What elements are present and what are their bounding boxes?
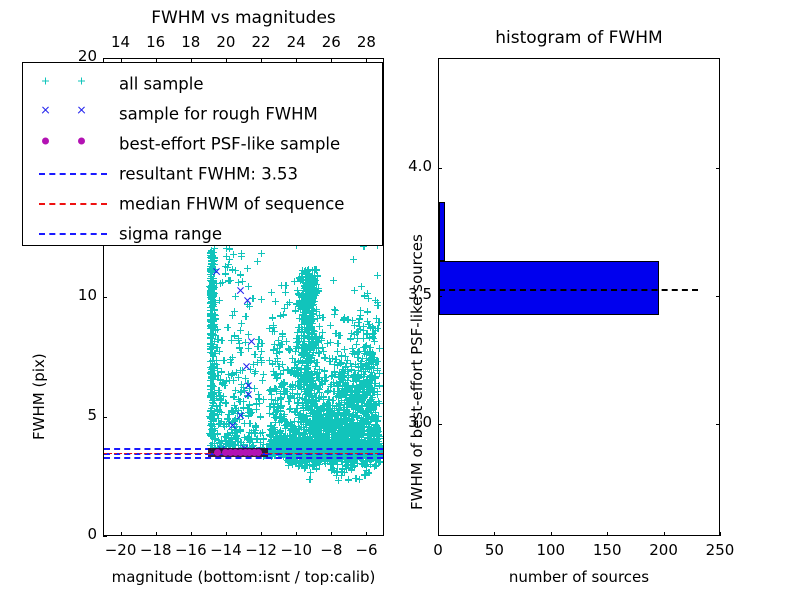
x-tick-mark — [331, 532, 332, 536]
all-sample-point — [260, 371, 267, 378]
top-x-tick-label: 20 — [206, 33, 246, 51]
all-sample-point — [253, 406, 260, 413]
all-sample-point — [238, 320, 245, 327]
right-y-axis-label: FWHM of best-effort PSF-like sources — [408, 234, 426, 510]
all-sample-point — [304, 352, 311, 359]
legend-label: best-effort PSF-like sample — [119, 135, 340, 154]
all-sample-point — [371, 425, 378, 432]
all-sample-point — [252, 423, 259, 430]
y-tick-mark — [103, 536, 107, 537]
all-sample-point — [239, 278, 246, 285]
all-sample-point — [308, 341, 315, 348]
all-sample-point — [273, 375, 280, 382]
all-sample-point — [237, 427, 244, 434]
all-sample-point — [317, 418, 324, 425]
histogram-of-fwhm-axes — [438, 58, 720, 536]
all-sample-point — [306, 282, 313, 289]
all-sample-point — [272, 298, 279, 305]
all-sample-point — [362, 343, 369, 350]
all-sample-point — [305, 298, 312, 305]
hist-x-tick-label: 150 — [583, 541, 631, 559]
all-sample-point — [208, 291, 215, 298]
all-sample-point — [272, 419, 279, 426]
all-sample-point — [345, 410, 352, 417]
legend-line-icon — [39, 173, 107, 175]
all-sample-point — [357, 326, 364, 333]
rough-fwhm-point — [212, 267, 221, 276]
all-sample-point — [374, 272, 381, 279]
all-sample-point — [210, 412, 217, 419]
all-sample-point — [304, 382, 311, 389]
rough-fwhm-point — [244, 381, 253, 390]
all-sample-point — [331, 410, 338, 417]
all-sample-point — [357, 307, 364, 314]
all-sample-point — [356, 433, 363, 440]
all-sample-point — [220, 357, 227, 364]
all-sample-point — [268, 289, 275, 296]
legend-label: all sample — [119, 75, 204, 94]
all-sample-point — [254, 258, 261, 265]
all-sample-point — [359, 417, 366, 424]
hist-x-tick-mark — [494, 532, 495, 536]
hist-x-tick-mark — [664, 532, 665, 536]
all-sample-point — [209, 298, 216, 305]
all-sample-point — [266, 387, 273, 394]
all-sample-point — [266, 357, 273, 364]
x-tick-mark — [366, 532, 367, 536]
hist-x-tick-label: 50 — [470, 541, 518, 559]
all-sample-point — [245, 405, 252, 412]
all-sample-point — [299, 326, 306, 333]
all-sample-point — [210, 282, 217, 289]
hist-median-line — [439, 289, 698, 291]
psf-like-point — [214, 449, 221, 456]
rough-fwhm-point — [244, 390, 253, 399]
hist-x-tick-label: 0 — [414, 541, 462, 559]
x-tick-mark — [156, 532, 157, 536]
x-tick-mark — [121, 532, 122, 536]
all-sample-point — [282, 289, 289, 296]
left-y-axis-label: FWHM (pix) — [30, 353, 48, 440]
hist-y-tick-label: 3.5 — [386, 285, 432, 303]
all-sample-point — [338, 468, 345, 475]
all-sample-point — [341, 314, 348, 321]
left-plot-title: FWHM vs magnitudes — [103, 8, 384, 28]
top-x-tick-label: 14 — [101, 33, 141, 51]
legend-row: median FHWM of sequence — [23, 189, 382, 219]
all-sample-point — [358, 283, 365, 290]
all-sample-point — [313, 266, 320, 273]
all-sample-point — [373, 358, 380, 365]
y-tick-mark — [103, 417, 107, 418]
all-sample-point — [259, 377, 266, 384]
all-sample-point — [289, 381, 296, 388]
histogram-bar — [439, 261, 659, 315]
all-sample-point — [373, 315, 380, 322]
all-sample-point — [300, 434, 307, 441]
right-plot-title: histogram of FWHM — [438, 28, 720, 48]
all-sample-point — [225, 277, 232, 284]
all-sample-point — [280, 311, 287, 318]
all-sample-point — [306, 323, 313, 330]
all-sample-point — [244, 265, 251, 272]
all-sample-point — [294, 364, 301, 371]
all-sample-point — [232, 267, 239, 274]
all-sample-point — [306, 316, 313, 323]
all-sample-point — [359, 389, 366, 396]
rough-fwhm-point — [242, 362, 251, 371]
figure-canvas: FWHM vs magnitudes FWHM (pix) magnitude … — [0, 0, 800, 600]
all-sample-point — [309, 334, 316, 341]
hist-x-tick-mark — [607, 532, 608, 536]
all-sample-point — [303, 358, 310, 365]
all-sample-point — [279, 437, 286, 444]
top-x-tick-label: 18 — [171, 33, 211, 51]
legend-label: resultant FWHM: 3.53 — [119, 165, 298, 184]
all-sample-point — [269, 314, 276, 321]
all-sample-point — [372, 462, 379, 469]
y-tick-label: 10 — [57, 286, 97, 304]
all-sample-point — [313, 465, 320, 472]
all-sample-point — [304, 273, 311, 280]
hist-y-tick-mark-right — [716, 168, 720, 169]
x-tick-mark — [191, 532, 192, 536]
rough-fwhm-point — [236, 286, 245, 295]
all-sample-point — [255, 395, 262, 402]
legend-dot-icon — [78, 137, 85, 144]
all-sample-point — [374, 367, 381, 374]
all-sample-point — [258, 296, 265, 303]
all-sample-point — [371, 380, 378, 387]
all-sample-point — [230, 377, 237, 384]
all-sample-point — [229, 354, 236, 361]
legend-plus-icon — [78, 77, 85, 84]
legend-line-icon — [39, 233, 107, 235]
top-x-tick-label: 28 — [346, 33, 386, 51]
all-sample-point — [272, 434, 279, 441]
histogram-bar — [439, 202, 445, 261]
hist-x-tick-label: 200 — [640, 541, 688, 559]
legend-label: sigma range — [119, 225, 222, 244]
x-tick-mark — [261, 532, 262, 536]
all-sample-point — [334, 340, 341, 347]
all-sample-point — [271, 328, 278, 335]
all-sample-point — [208, 370, 215, 377]
x-tick-mark — [296, 532, 297, 536]
all-sample-point — [332, 330, 339, 337]
all-sample-point — [289, 390, 296, 397]
all-sample-point — [348, 391, 355, 398]
all-sample-point — [363, 351, 370, 358]
all-sample-point — [213, 344, 220, 351]
top-x-tick-label: 26 — [311, 33, 351, 51]
hist-x-tick-mark — [438, 532, 439, 536]
all-sample-point — [254, 359, 261, 366]
all-sample-point — [258, 340, 265, 347]
all-sample-point — [364, 290, 371, 297]
all-sample-point — [215, 437, 222, 444]
hist-y-tick-mark-right — [716, 424, 720, 425]
all-sample-point — [285, 345, 292, 352]
all-sample-point — [327, 322, 334, 329]
all-sample-point — [242, 313, 249, 320]
psf-like-point — [255, 449, 262, 456]
legend-row: best-effort PSF-like sample — [23, 129, 382, 159]
all-sample-point — [285, 398, 292, 405]
right-plot-data-area — [439, 59, 719, 535]
all-sample-point — [287, 405, 294, 412]
all-sample-point — [354, 460, 361, 467]
all-sample-point — [369, 394, 376, 401]
legend-dot-icon — [42, 137, 49, 144]
all-sample-point — [313, 403, 320, 410]
legend-plus-icon — [42, 77, 49, 84]
all-sample-point — [222, 270, 229, 277]
all-sample-point — [334, 348, 341, 355]
all-sample-point — [258, 348, 265, 355]
all-sample-point — [223, 253, 230, 260]
all-sample-point — [329, 397, 336, 404]
hist-y-tick-mark — [438, 424, 442, 425]
all-sample-point — [248, 435, 255, 442]
top-x-tick-label: 22 — [241, 33, 281, 51]
right-x-axis-label: number of sources — [438, 568, 720, 586]
all-sample-point — [338, 375, 345, 382]
all-sample-point — [281, 379, 288, 386]
legend-line-icon — [39, 203, 107, 205]
x-tick-mark — [226, 532, 227, 536]
all-sample-point — [270, 346, 277, 353]
rough-fwhm-point — [243, 296, 252, 305]
all-sample-point — [245, 345, 252, 352]
all-sample-point — [345, 476, 352, 483]
all-sample-point — [353, 341, 360, 348]
hist-x-tick-label: 100 — [527, 541, 575, 559]
all-sample-point — [224, 324, 231, 331]
hist-x-tick-mark — [720, 532, 721, 536]
all-sample-point — [212, 327, 219, 334]
hist-y-tick-mark — [438, 296, 442, 297]
all-sample-point — [330, 277, 337, 284]
all-sample-point — [313, 359, 320, 366]
all-sample-point — [231, 308, 238, 315]
all-sample-point — [348, 403, 355, 410]
all-sample-point — [374, 302, 381, 309]
legend-row: resultant FWHM: 3.53 — [23, 159, 382, 189]
all-sample-point — [238, 253, 245, 260]
hist-y-tick-label: 4.0 — [386, 157, 432, 175]
all-sample-point — [209, 397, 216, 404]
y-tick-label: 0 — [57, 525, 97, 543]
left-x-axis-label: magnitude (bottom:isnt / top:calib) — [103, 568, 384, 586]
all-sample-point — [350, 256, 357, 263]
all-sample-point — [268, 396, 275, 403]
hist-y-tick-label: 3.0 — [386, 413, 432, 431]
legend-cross-icon — [41, 105, 50, 114]
rough-fwhm-point — [247, 337, 256, 346]
all-sample-point — [207, 377, 214, 384]
all-sample-point — [289, 355, 296, 362]
legend-row: sample for rough FWHM — [23, 99, 382, 129]
rough-fwhm-point — [236, 411, 245, 420]
rough-fwhm-point — [228, 421, 237, 430]
hist-x-tick-mark — [551, 532, 552, 536]
all-sample-point — [356, 315, 363, 322]
legend-row: all sample — [23, 69, 382, 99]
all-sample-point — [257, 413, 264, 420]
all-sample-point — [356, 476, 363, 483]
legend-label: median FHWM of sequence — [119, 195, 344, 214]
all-sample-point — [219, 380, 226, 387]
all-sample-point — [235, 335, 242, 342]
hist-x-tick-label: 250 — [696, 541, 744, 559]
all-sample-point — [306, 290, 313, 297]
all-sample-point — [233, 435, 240, 442]
all-sample-point — [364, 407, 371, 414]
all-sample-point — [222, 263, 229, 270]
all-sample-point — [363, 467, 370, 474]
all-sample-point — [342, 383, 349, 390]
legend-row: sigma range — [23, 219, 382, 249]
all-sample-point — [209, 428, 216, 435]
all-sample-point — [369, 331, 376, 338]
all-sample-point — [258, 250, 265, 257]
all-sample-point — [306, 476, 313, 483]
x-tick-label: −6 — [342, 541, 390, 559]
all-sample-point — [362, 368, 369, 375]
hist-y-tick-mark — [438, 168, 442, 169]
all-sample-point — [344, 435, 351, 442]
all-sample-point — [237, 349, 244, 356]
all-sample-point — [279, 333, 286, 340]
all-sample-point — [295, 462, 302, 469]
y-tick-label: 5 — [57, 406, 97, 424]
all-sample-point — [358, 360, 365, 367]
all-sample-point — [208, 386, 215, 393]
all-sample-point — [294, 372, 301, 379]
all-sample-point — [350, 374, 357, 381]
hist-y-tick-mark-right — [716, 296, 720, 297]
all-sample-point — [324, 340, 331, 347]
top-x-tick-label: 16 — [136, 33, 176, 51]
legend-label: sample for rough FWHM — [119, 105, 318, 124]
all-sample-point — [320, 433, 327, 440]
all-sample-point — [364, 308, 371, 315]
all-sample-point — [298, 344, 305, 351]
legend-cross-icon — [77, 105, 86, 114]
top-x-tick-label: 24 — [276, 33, 316, 51]
all-sample-point — [207, 250, 214, 257]
all-sample-point — [338, 417, 345, 424]
all-sample-point — [323, 406, 330, 413]
all-sample-point — [332, 307, 339, 314]
all-sample-point — [237, 327, 244, 334]
all-sample-point — [331, 467, 338, 474]
all-sample-point — [277, 390, 284, 397]
all-sample-point — [307, 310, 314, 317]
all-sample-point — [318, 393, 325, 400]
all-sample-point — [228, 337, 235, 344]
all-sample-point — [330, 379, 337, 386]
all-sample-point — [351, 287, 358, 294]
y-tick-mark — [103, 297, 107, 298]
y-tick-mark — [103, 58, 107, 59]
all-sample-point — [370, 414, 377, 421]
legend: all samplesample for rough FWHMbest-effo… — [22, 62, 383, 246]
all-sample-point — [370, 325, 377, 332]
all-sample-point — [314, 315, 321, 322]
all-sample-point — [376, 345, 383, 352]
all-sample-point — [284, 301, 291, 308]
all-sample-point — [340, 368, 347, 375]
